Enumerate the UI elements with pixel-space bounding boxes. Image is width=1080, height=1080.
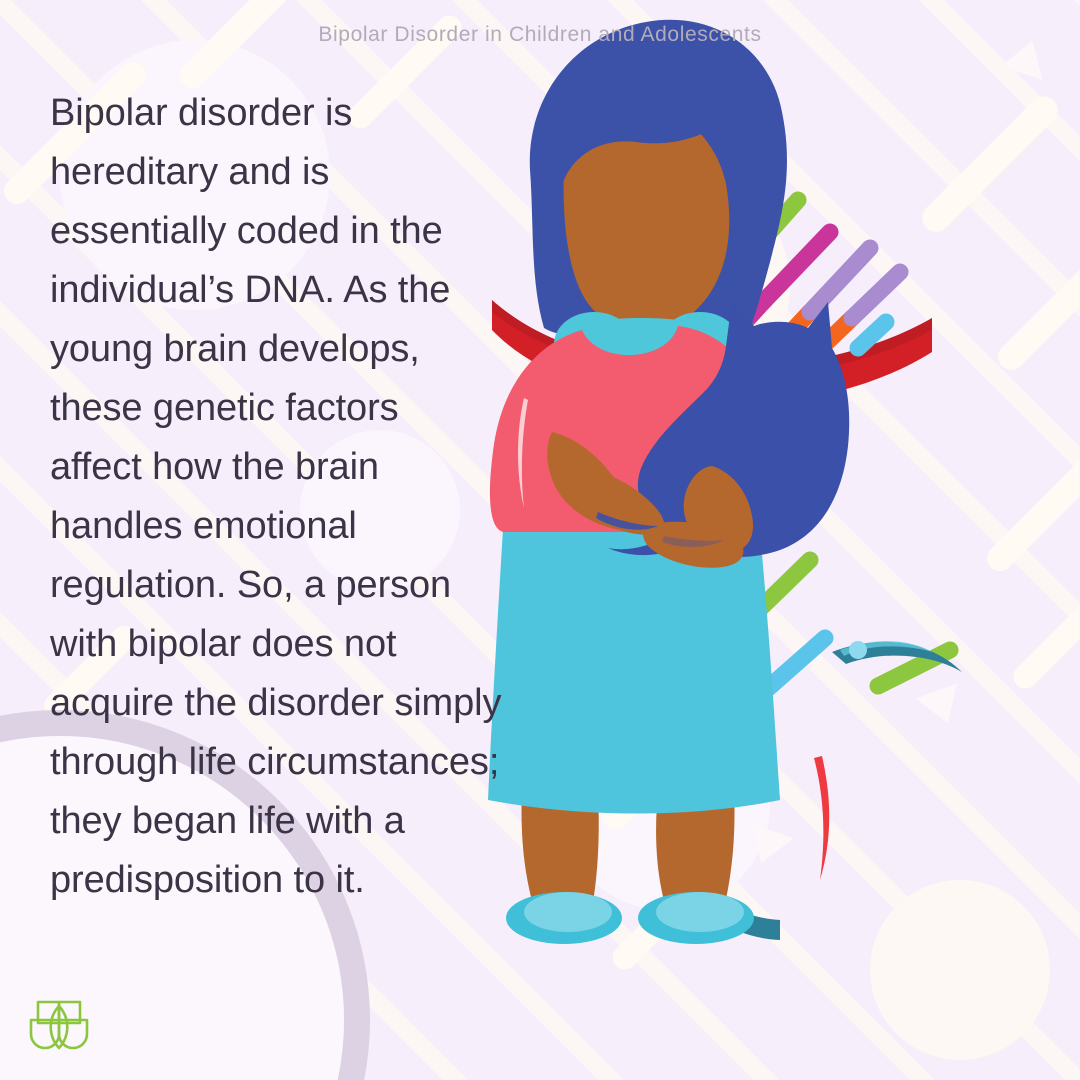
copy-line: young brain develops,: [50, 320, 570, 379]
dna-backbone-red-tail: [814, 756, 829, 880]
copy-line: regulation. So, a person: [50, 556, 570, 615]
copy-line: they began life with a: [50, 792, 570, 851]
page-title: Bipolar Disorder in Children and Adolesc…: [318, 23, 761, 47]
brand-logo[interactable]: [26, 992, 92, 1054]
poster-canvas: Bipolar Disorder in Children and Adolesc…: [0, 0, 1080, 1080]
copy-line: hereditary and is: [50, 143, 570, 202]
copy-line: handles emotional: [50, 497, 570, 556]
copy-line: predisposition to it.: [50, 851, 570, 910]
header: Bipolar Disorder in Children and Adolesc…: [0, 0, 1080, 70]
copy-line: Bipolar disorder is: [50, 84, 570, 143]
copy-line: essentially coded in the: [50, 202, 570, 261]
copy-line: these genetic factors: [50, 379, 570, 438]
shoe-right-inner: [656, 892, 744, 932]
dna-dot: [849, 641, 867, 659]
leaf-logo-icon: [26, 992, 92, 1054]
copy-line: through life circumstances;: [50, 733, 570, 792]
copy-line: individual’s DNA. As the: [50, 261, 570, 320]
body-paragraph: Bipolar disorder is hereditary and is es…: [50, 84, 570, 910]
copy-line: affect how the brain: [50, 438, 570, 497]
copy-line: with bipolar does not: [50, 615, 570, 674]
illustration: [480, 0, 1080, 1080]
copy-line: acquire the disorder simply: [50, 674, 570, 733]
